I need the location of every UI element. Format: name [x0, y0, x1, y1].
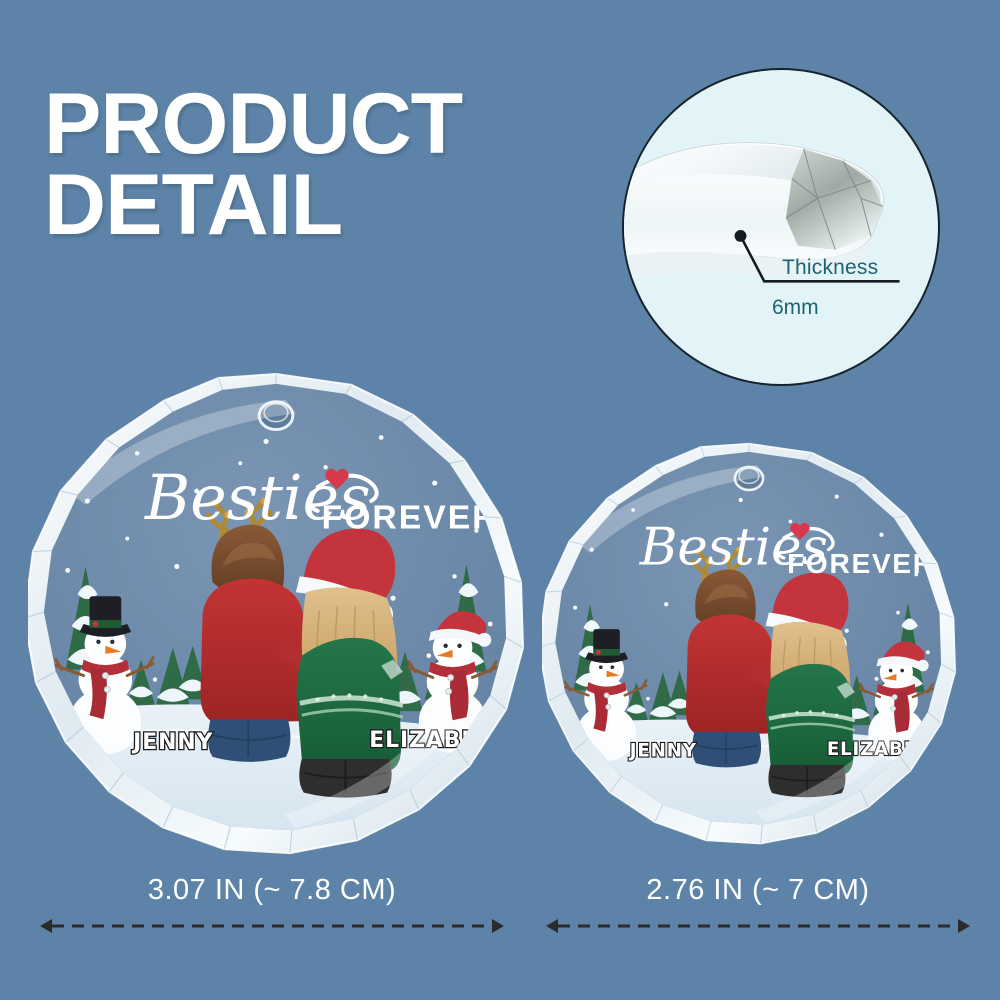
- ornament-small-illustration: Besties FOREVER JENNY ELIZABETH: [542, 442, 956, 856]
- dimension-small: 2.76 IN (~ 7 CM): [532, 874, 984, 937]
- thickness-callout: Thickness 6mm: [622, 68, 940, 386]
- dimension-small-arrow: [532, 915, 984, 937]
- product-detail-banner: PRODUCT DETAIL: [0, 0, 1000, 1000]
- person-right: [296, 529, 403, 798]
- dimension-small-text: 2.76 IN (~ 7 CM): [532, 874, 984, 907]
- thickness-label: Thickness: [782, 256, 878, 280]
- headline-block: FOREVER: [322, 499, 499, 537]
- ornament-large-illustration: Besties FOREVER JENNY ELIZABETH: [28, 372, 524, 868]
- headline-block: FOREVER: [787, 548, 935, 579]
- person-right: [766, 573, 855, 798]
- dimension-large-text: 3.07 IN (~ 7.8 CM): [22, 874, 522, 907]
- glass-edge-illustration: [624, 70, 938, 384]
- name-left: JENNY: [131, 730, 213, 755]
- dimension-large: 3.07 IN (~ 7.8 CM): [22, 874, 522, 937]
- ornament-small[interactable]: Besties FOREVER JENNY ELIZABETH: [542, 442, 956, 856]
- thickness-value: 6mm: [772, 296, 819, 320]
- dimension-large-arrow: [22, 915, 522, 937]
- name-left: JENNY: [628, 741, 697, 762]
- page-title: PRODUCT DETAIL: [44, 84, 462, 246]
- ornament-large[interactable]: Besties FOREVER JENNY ELIZABETH: [28, 372, 524, 868]
- page-title-line-2: DETAIL: [44, 165, 462, 246]
